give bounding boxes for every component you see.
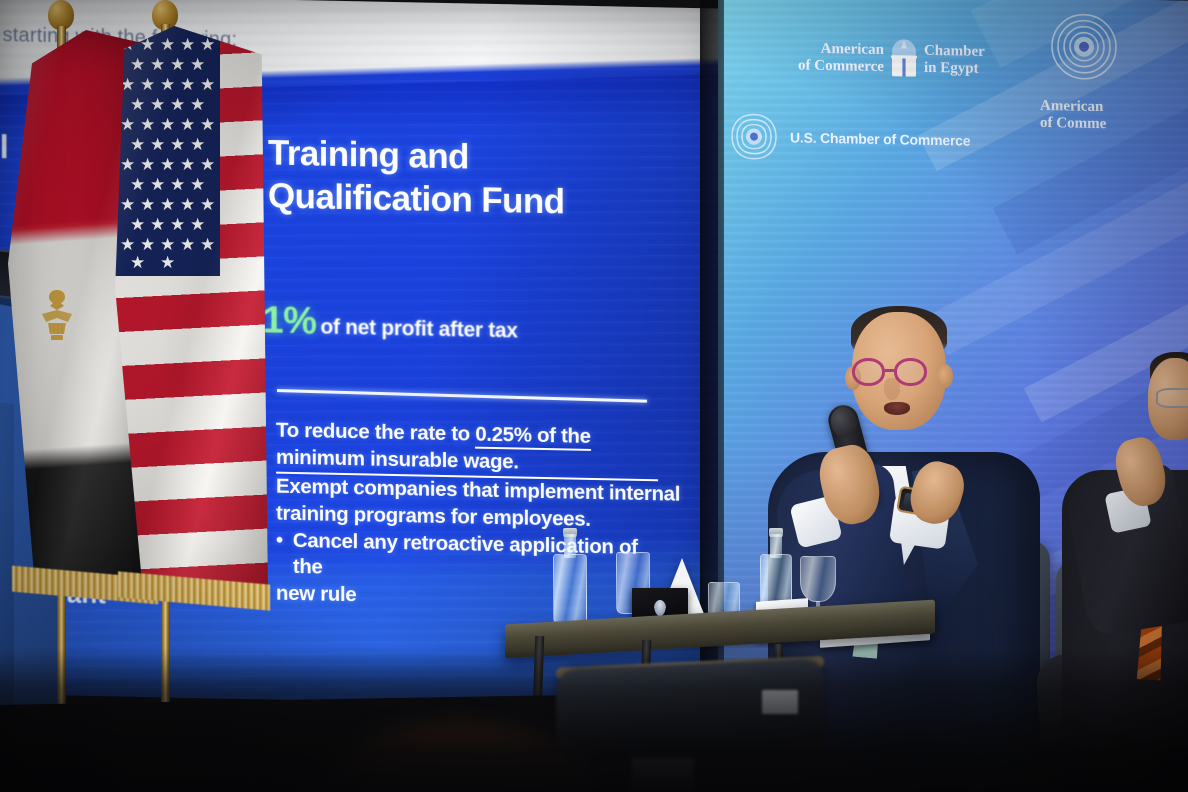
slide-body-bullet-row: • Cancel any retroactive application of … (276, 527, 658, 588)
amcham-partial-line-1: American (1040, 98, 1106, 116)
speaker-glasses-icon (852, 358, 948, 388)
slide-title-line-2: Qualification Fund (268, 175, 668, 226)
placard-logo-icon (654, 600, 666, 616)
us-chamber-swirl-icon (728, 110, 780, 163)
amcham-partial-text: American of Comme (1040, 98, 1106, 133)
us-chamber-label: U.S. Chamber of Commerce (790, 129, 970, 148)
slide-divider (277, 389, 647, 403)
us-chamber-of-commerce-logo: U.S. Chamber of Commerce (728, 110, 970, 166)
wine-glass-bowl (800, 556, 836, 602)
slide-body-line-1-underlined: 0.25% of the (475, 423, 590, 451)
amcham-text-right: Chamber in Egypt (924, 43, 985, 78)
speaker-mouth (884, 402, 910, 415)
amcham-swirl-icon-partial (1048, 10, 1120, 83)
speaker-lens-right (894, 358, 927, 386)
slide-body-line-1-plain: To reduce the rate to (276, 419, 475, 446)
water-bottle-1 (553, 528, 587, 624)
amcham-line-2: of Commerce (798, 57, 884, 75)
amcham-line-2b: in Egypt (924, 60, 985, 78)
amcham-partial-line-2: of Comme (1040, 115, 1106, 133)
speaker-glasses-bridge (885, 369, 894, 372)
foreground-chair-tag (762, 690, 798, 714)
foreground-paper (632, 758, 694, 792)
amcham-capitol-icon (887, 39, 921, 80)
bottle-body-1 (553, 554, 587, 624)
eagle-of-saladin-icon (34, 286, 80, 344)
amcham-text-left: American of Commerce (798, 41, 884, 76)
speaker-lens-left (852, 358, 885, 386)
amcham-line-1: American (798, 41, 884, 59)
amcham-egypt-logo: American of Commerce Chamber in Egypt (798, 37, 985, 80)
amcham-line-1b: Chamber (924, 43, 985, 61)
slide-body-line-5: Cancel any retroactive application of th… (293, 528, 658, 589)
slide-title: Training and Qualification Fund (268, 131, 668, 225)
slide-percent-caption: of net profit after tax (320, 316, 517, 344)
slide-body-text: To reduce the rate to 0.25% of the minim… (276, 418, 658, 615)
amcham-logo-partial-mark (1048, 10, 1120, 83)
flag-group: ★★ ★★ ★ ★★ ★★ ★★ ★★ ★ ★★ ★★ ★★ ★★ ★ ★★ ★… (0, 0, 300, 792)
conference-photo-scene: sis, starting with the following: ol eva… (0, 0, 1188, 792)
panelist-glasses-icon (1156, 388, 1188, 408)
